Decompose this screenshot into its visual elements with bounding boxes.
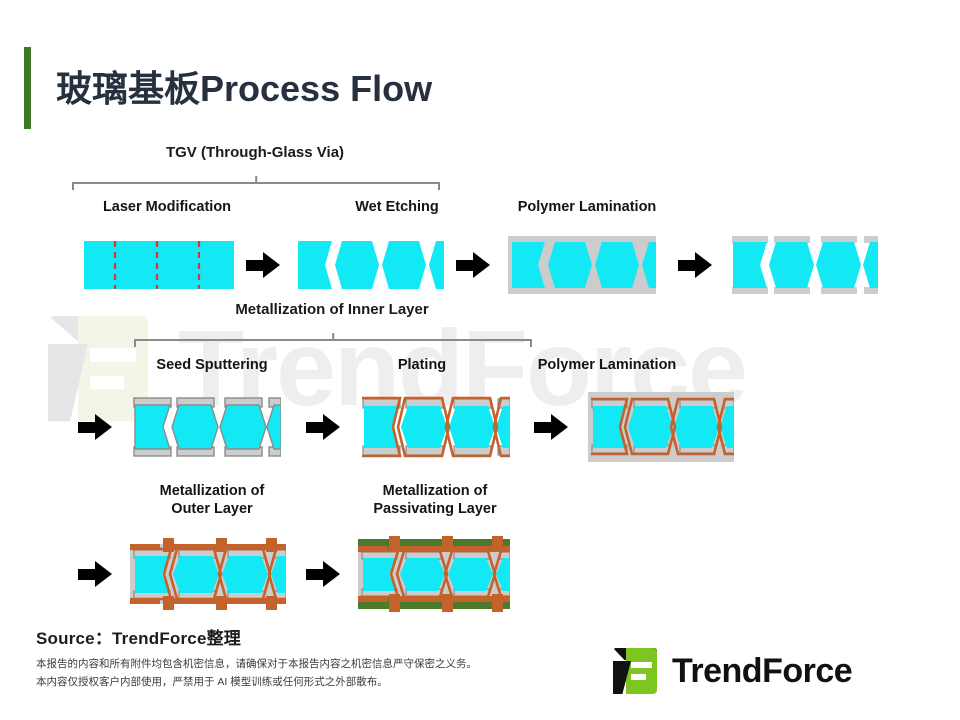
source-label: Source：TrendForce整理 <box>36 624 477 649</box>
title-accent-bar <box>24 47 31 129</box>
arrow-6 <box>534 414 568 440</box>
disclaimer-line-1: 本报告的内容和所有附件均包含机密信息，请确保对于本报告内容之机密信息严守保密之义… <box>36 656 477 672</box>
step-title-line-2: Passivating Layer <box>373 501 496 517</box>
arrow-3 <box>678 252 712 278</box>
stack-polymer-caps <box>730 236 878 294</box>
footer: Source：TrendForce整理 本报告的内容和所有附件均包含机密信息，请… <box>36 624 477 691</box>
stack-plating <box>360 396 510 458</box>
step-title-polymer-lamination-1: Polymer Lamination <box>420 199 754 217</box>
arrow-8 <box>306 561 340 587</box>
stack-wet-etching <box>298 241 444 289</box>
stack-laser-modification <box>84 241 234 289</box>
arrow-1 <box>246 252 280 278</box>
arrow-2 <box>456 252 490 278</box>
slide-root: TrendForce 玻璃基板Process Flow TGV (Through… <box>0 0 960 720</box>
group-title-tgv: TGV (Through-Glass Via) <box>70 144 440 161</box>
stack-seed-sputtering <box>131 396 281 458</box>
step-title-metallization-passivating: Metallization of Passivating Layer <box>268 483 602 518</box>
group-title-inner: Metallization of Inner Layer <box>132 301 532 318</box>
step-title-line-1: Metallization of <box>383 483 488 499</box>
step-title-line-2: Outer Layer <box>171 501 252 517</box>
arrow-7 <box>78 561 112 587</box>
step-title-line-1: Metallization of <box>160 483 265 499</box>
page-title: 玻璃基板Process Flow <box>56 60 432 112</box>
bracket-tgv <box>72 176 440 190</box>
trendforce-logo-text: TrendForce <box>672 654 852 688</box>
stack-metallization-outer <box>130 536 286 612</box>
stack-polymer-lamination-1 <box>508 236 656 294</box>
stack-metallization-passivating <box>358 536 510 612</box>
trendforce-logo: TrendForce <box>610 645 852 697</box>
arrow-5 <box>306 414 340 440</box>
disclaimer-line-2: 本内容仅授权客户内部使用，严禁用于 AI 模型训练或任何形式之外部散布。 <box>36 674 477 690</box>
arrow-4 <box>78 414 112 440</box>
stack-polymer-lamination-2 <box>588 392 734 462</box>
step-title-polymer-lamination-2: Polymer Lamination <box>440 357 774 375</box>
trendforce-logo-icon <box>610 645 662 697</box>
bracket-inner <box>134 333 532 347</box>
